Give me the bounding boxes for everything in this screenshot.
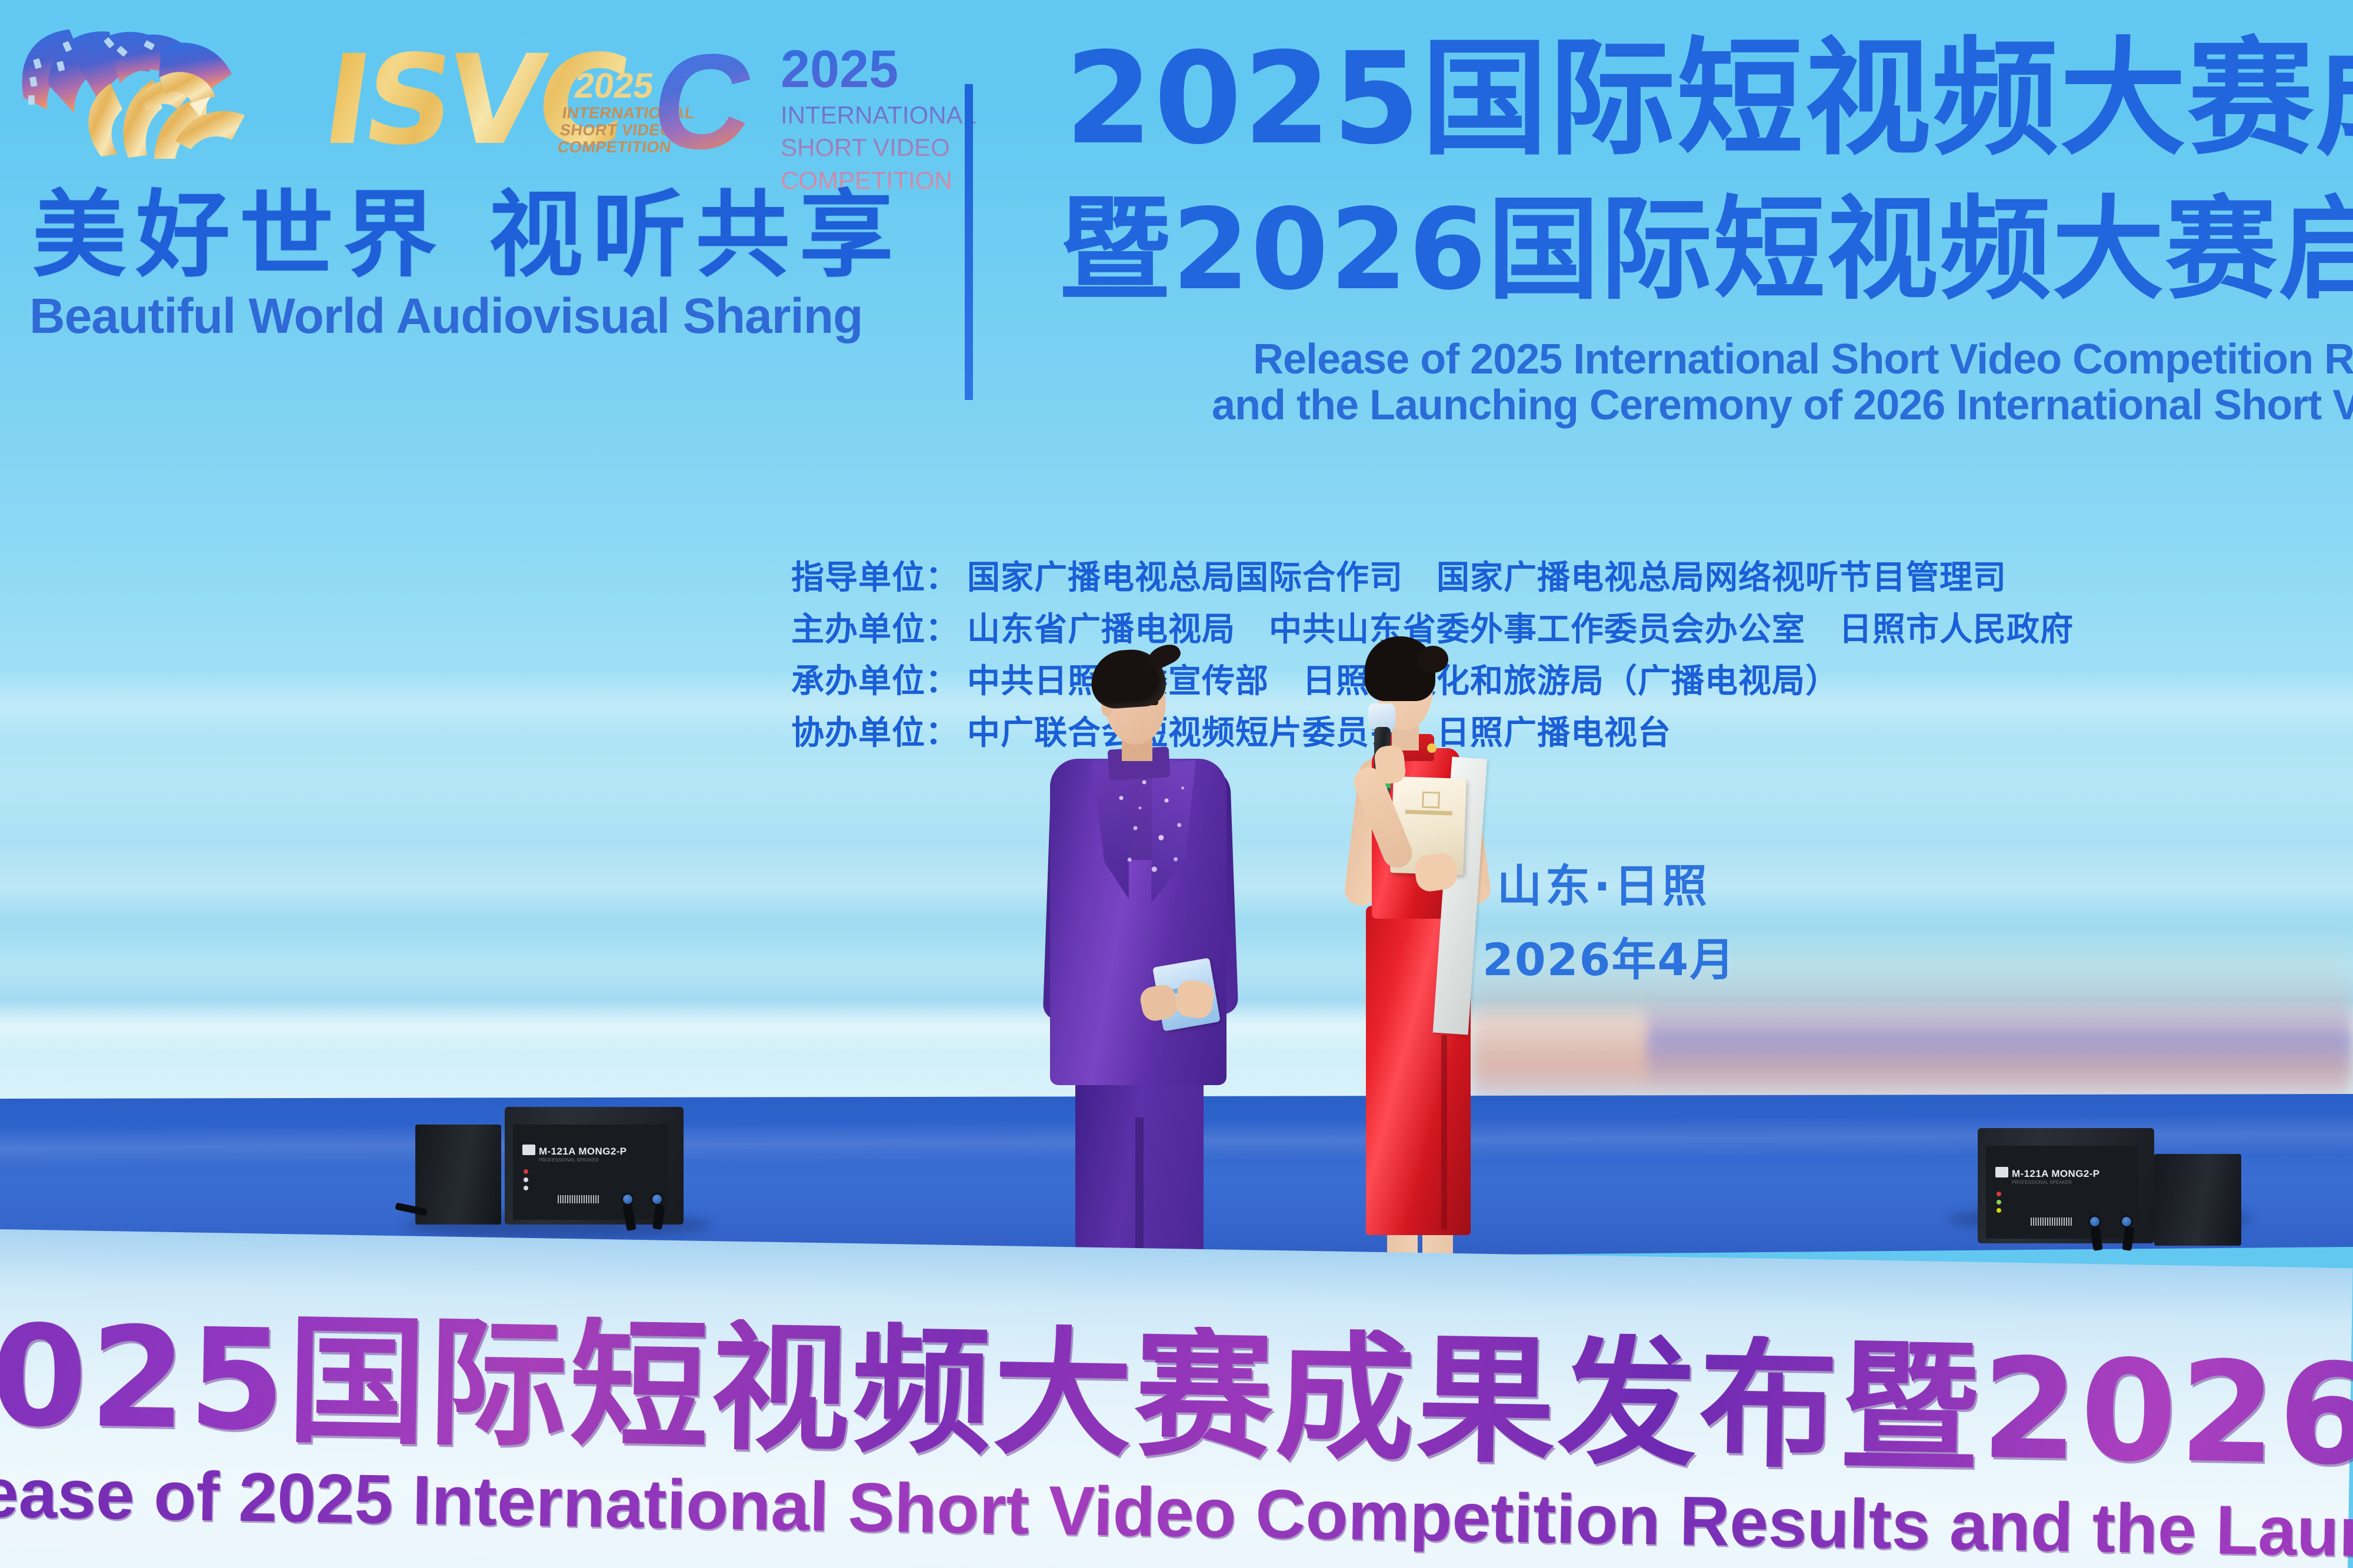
monitor-barcode (558, 1195, 599, 1203)
monitor-status-led (1997, 1192, 2001, 1196)
credit-label: 主办单位： (791, 613, 959, 646)
stage-scene: ISVC 2025 INTERNATIONAL SHORT VIDEO COMP… (0, 0, 2353, 1568)
credit-label: 指导单位： (791, 562, 959, 595)
female-presenter-brooch (1427, 743, 1437, 753)
monitor-brand-sublabel: PROFESSIONAL SPEAKER (539, 1157, 599, 1163)
logo-right-subtitle-line2: SHORT VIDEO (781, 131, 976, 164)
monitor-side-cabinet (2154, 1154, 2241, 1246)
credit-row: 指导单位： 国家广播电视总局国际合作司 国家广播电视总局网络视听节目管理司 (791, 562, 2074, 595)
monitor-model-label: M-121A MONG2-P (2012, 1168, 2100, 1180)
slogan-english: Beautiful World Audiovisual Sharing (29, 291, 862, 341)
monitor-brand-sublabel: PROFESSIONAL SPEAKER (2012, 1180, 2072, 1185)
female-presenter-skirt-slit (1441, 1035, 1447, 1229)
event-date: 2026年4月 (1482, 923, 1735, 988)
microphone-flag (1368, 703, 1395, 729)
monitor-brand-logo (522, 1145, 535, 1155)
monitor-amp-panel (513, 1125, 668, 1220)
event-title-en-line2: and the Launching Ceremony of 2026 Inter… (1212, 381, 2353, 429)
credit-value: 国家广播电视总局国际合作司 国家广播电视总局网络视听节目管理司 (967, 562, 2007, 595)
event-title-en-line1: Release of 2025 International Short Vide… (1253, 335, 2353, 383)
logo-right-year: 2025 (781, 43, 898, 96)
monitor-barcode (2031, 1217, 2072, 1226)
lotus-filmstrip-icon (13, 21, 313, 168)
monitor-brand-logo (1995, 1167, 2008, 1177)
credit-label: 承办单位： (791, 665, 959, 698)
event-venue: 山东·日照 (1497, 850, 1711, 915)
monitor-model-label: M-121A MONG2-P (539, 1146, 627, 1157)
slogan-chinese: 美好世界 视听共享 (32, 188, 903, 282)
vertical-divider (965, 84, 973, 400)
credit-value: 中广联合会短视频短片委员会 日照广播电视台 (967, 717, 1671, 750)
event-title-cn-line1: 2025国际短视频大赛成果发布 (1065, 35, 2353, 162)
monitor-status-led (1997, 1200, 2001, 1205)
monitor-speakon-connector (621, 1193, 634, 1206)
female-presenter-hair-bun (1418, 646, 1448, 673)
credit-label: 协办单位： (791, 717, 959, 750)
monitor-status-led (1997, 1208, 2001, 1213)
monitor-status-led (524, 1177, 528, 1182)
logo-inner-year: 2025 (572, 68, 656, 104)
monitor-status-led (524, 1186, 528, 1190)
female-presenter-hand-holding-mic (1374, 745, 1407, 785)
monitor-speakon-connector (2088, 1215, 2101, 1228)
logo-big-letter: C (645, 34, 761, 169)
logo-right-subtitle-line1: INTERNATIONAL (781, 99, 976, 131)
credit-row: 主办单位： 山东省广播电视局 中共山东省委外事工作委员会办公室 日照市人民政府 (791, 613, 2074, 646)
monitor-side-cabinet (415, 1125, 501, 1225)
monitor-status-led (524, 1169, 528, 1174)
front-stage-banner: 2025国际短视频大赛成果发布暨2026国际短视频大赛启动仪式 Release … (0, 1229, 2352, 1568)
event-title-cn-line2: 暨2026国际短视频大赛启动仪式 (1059, 194, 2353, 306)
isvc-logo-block: ISVC 2025 INTERNATIONAL SHORT VIDEO COMP… (13, 16, 931, 187)
backdrop-horizon-glow (1647, 1000, 2353, 1088)
credit-value: 山东省广播电视局 中共山东省委外事工作委员会办公室 日照市人民政府 (967, 613, 2074, 646)
